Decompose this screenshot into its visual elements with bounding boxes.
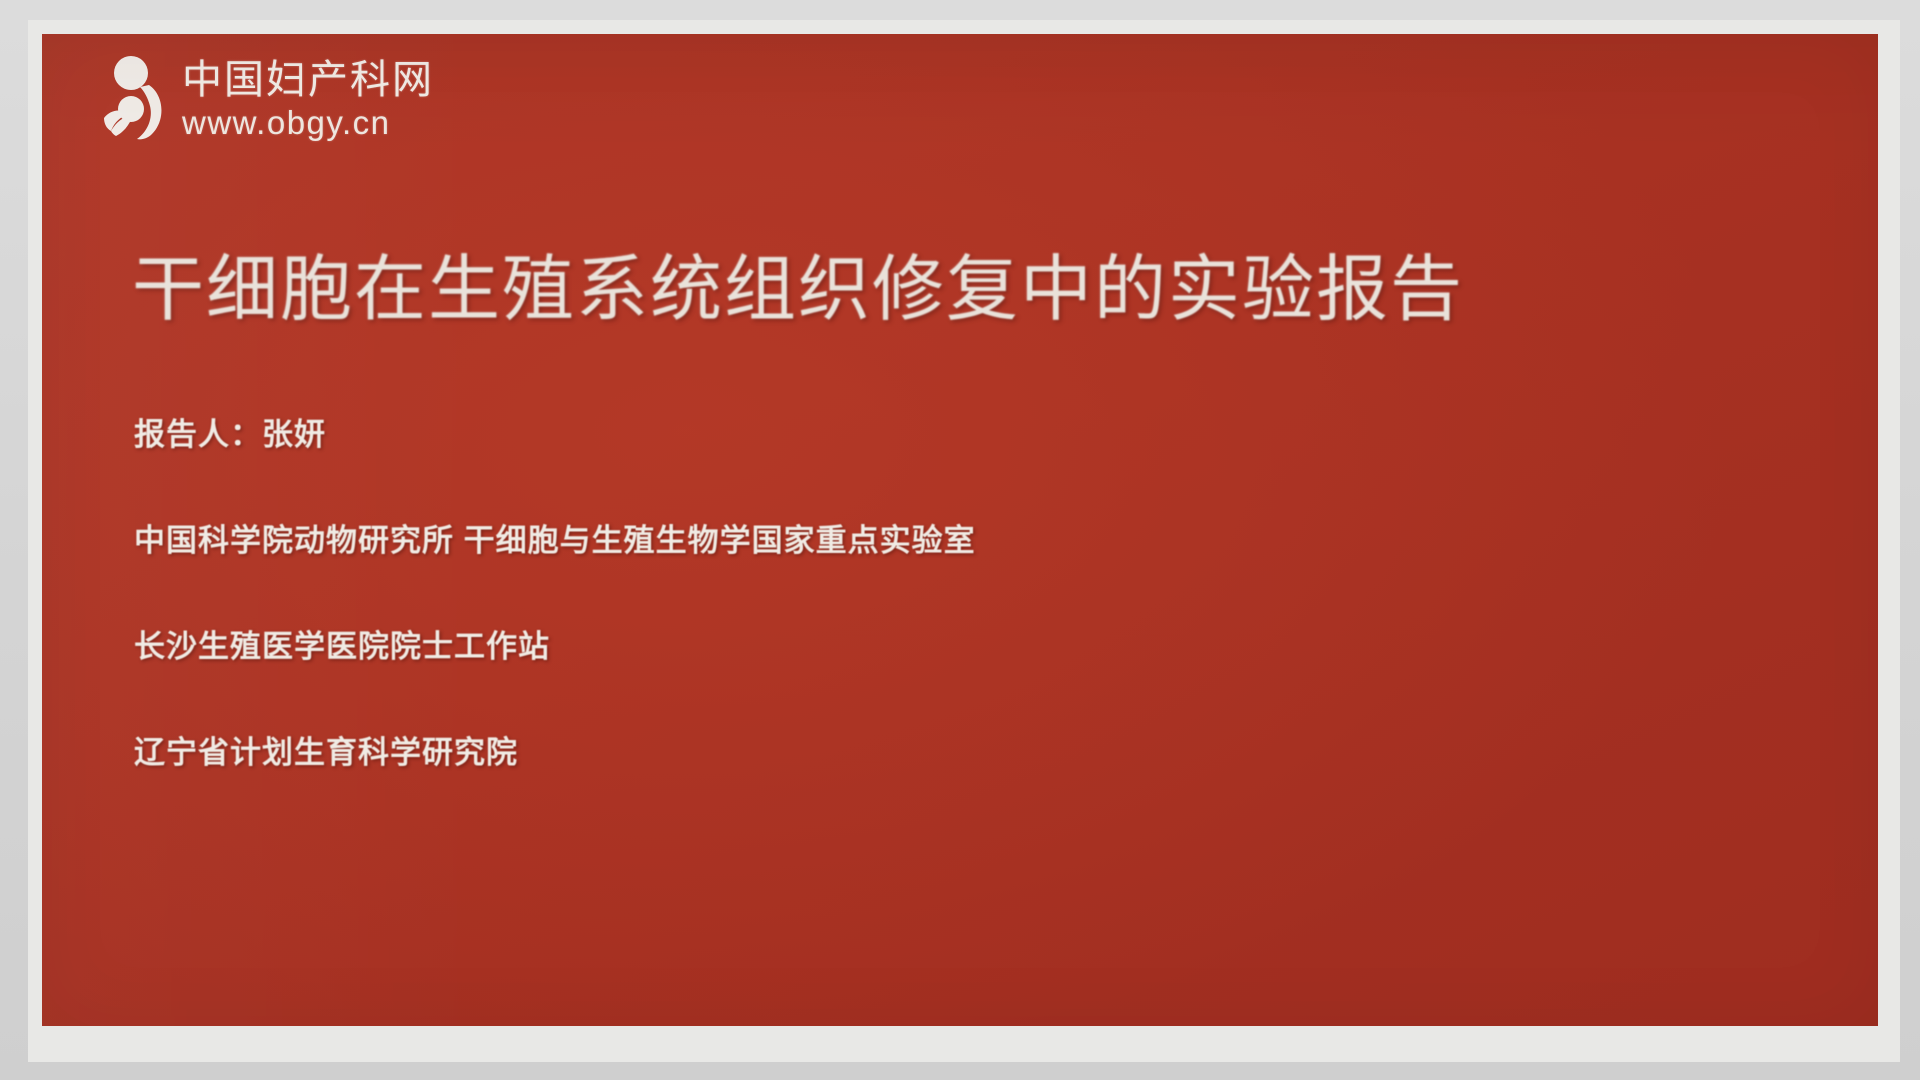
presentation-slide: 中国妇产科网 www.obgy.cn 干细胞在生殖系统组织修复中的实验报告 报告… — [42, 34, 1878, 1026]
logo-text-block: 中国妇产科网 www.obgy.cn — [182, 56, 434, 139]
video-player-viewport: 中国妇产科网 www.obgy.cn 干细胞在生殖系统组织修复中的实验报告 报告… — [0, 0, 1920, 1080]
slide-body-line-institute-1: 中国科学院动物研究所 干细胞与生殖生物学国家重点实验室 — [134, 515, 1634, 560]
slide-body-line-institute-2: 长沙生殖医学医院院士工作站 — [134, 621, 1634, 666]
slide-body-line-presenter: 报告人：张妍 — [134, 409, 1634, 454]
slide-body: 报告人：张妍 中国科学院动物研究所 干细胞与生殖生物学国家重点实验室 长沙生殖医… — [134, 409, 1634, 772]
slide-frame: 中国妇产科网 www.obgy.cn 干细胞在生殖系统组织修复中的实验报告 报告… — [28, 20, 1900, 1062]
logo-site-url: www.obgy.cn — [182, 106, 434, 139]
slide-title: 干细胞在生殖系统组织修复中的实验报告 — [132, 230, 1464, 335]
logo-site-name: 中国妇产科网 — [182, 60, 434, 100]
slide-body-line-institute-3: 辽宁省计划生育科学研究院 — [134, 727, 1634, 772]
site-watermark-logo: 中国妇产科网 www.obgy.cn — [100, 54, 434, 140]
mother-and-child-logo-icon — [100, 54, 172, 140]
